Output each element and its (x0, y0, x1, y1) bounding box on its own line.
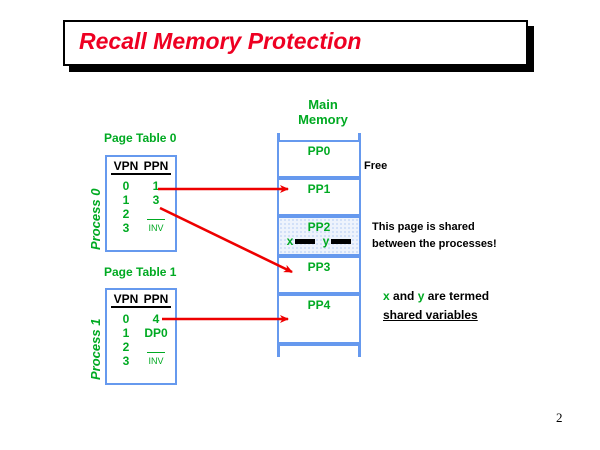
annotation-and: and (390, 289, 418, 303)
main-memory-title-line2: Memory (283, 112, 363, 127)
annotation-var-x: x (383, 289, 390, 303)
page-number: 2 (556, 410, 563, 426)
pt0-r2-vpn: 2 (111, 207, 141, 221)
memory-block-pp1-label: PP1 (279, 182, 359, 196)
main-memory-title-line1: Main (283, 97, 363, 112)
memory-block-pp4[interactable]: PP4 (277, 294, 361, 344)
table-row[interactable]: 2 (111, 340, 171, 354)
shared-variables-annotation-line1: x and y are termed (383, 287, 489, 306)
page-title: Recall Memory Protection (79, 28, 361, 55)
pt0-r0-ppn: 1 (141, 179, 171, 193)
memory-block-pp3-label: PP3 (279, 260, 359, 274)
page-table-0-col-vpn: VPN (111, 159, 141, 175)
memory-block-pp4-label: PP4 (279, 298, 359, 312)
pt0-r1-vpn: 1 (111, 193, 141, 207)
main-memory-title: Main Memory (283, 97, 363, 127)
pt1-r0-ppn: 4 (141, 312, 171, 326)
process-1-label: Process 1 (88, 319, 103, 380)
shared-variables-annotation-line2: shared variables (383, 306, 489, 325)
pt1-r1-ppn: DP0 (141, 326, 171, 340)
pt0-r3-ppn: INV (141, 221, 171, 235)
memory-block-pp3[interactable]: PP3 (277, 256, 361, 294)
pt1-r0-vpn: 0 (111, 312, 141, 326)
pt0-r2-ppn (141, 207, 171, 221)
annotation-termed: are termed (424, 289, 489, 303)
table-row[interactable]: 3 INV (111, 221, 171, 235)
arrow-pt0-vpn1-to-pp3 (160, 208, 292, 272)
title-box: Recall Memory Protection (63, 20, 528, 66)
table-row[interactable]: 0 4 (111, 312, 171, 326)
shared-page-annotation: This page is shared between the processe… (372, 219, 497, 253)
page-table-0-header: VPN PPN (111, 159, 171, 175)
page-table-1-header: VPN PPN (111, 292, 171, 308)
page-table-1-caption: Page Table 1 (104, 265, 176, 279)
memory-bottom-edge (277, 343, 361, 346)
shared-page-annotation-line2: between the processes! (372, 236, 497, 253)
memory-block-pp1[interactable]: PP1 (277, 178, 361, 216)
page-table-0[interactable]: VPN PPN 0 1 1 3 2 3 INV (105, 155, 177, 252)
variable-value-bar-icon (295, 239, 315, 244)
shared-variable-x-name: x (287, 235, 294, 247)
memory-block-pp0[interactable]: PP0 (277, 140, 361, 178)
pt1-r1-vpn: 1 (111, 326, 141, 340)
shared-variables-annotation: x and y are termed shared variables (383, 287, 489, 325)
slide-canvas: Recall Memory Protection Page Table 0 Pr… (0, 0, 600, 450)
pt0-r0-vpn: 0 (111, 179, 141, 193)
process-0-label: Process 0 (88, 189, 103, 250)
memory-block-pp2[interactable]: PP2 x y (277, 216, 361, 256)
page-table-0-col-ppn: PPN (141, 159, 171, 175)
pt1-r2-vpn: 2 (111, 340, 141, 354)
table-row[interactable]: 1 3 (111, 193, 171, 207)
page-table-0-caption: Page Table 0 (104, 131, 176, 145)
table-row[interactable]: 2 (111, 207, 171, 221)
page-table-1-col-ppn: PPN (141, 292, 171, 308)
table-row[interactable]: 3 INV (111, 354, 171, 368)
table-row[interactable]: 1 DP0 (111, 326, 171, 340)
page-table-1[interactable]: VPN PPN 0 4 1 DP0 2 3 INV (105, 288, 177, 385)
variable-value-bar-icon (331, 239, 351, 244)
pt1-r3-vpn: 3 (111, 354, 141, 368)
shared-variables-row: x y (279, 235, 359, 247)
shared-page-annotation-line1: This page is shared (372, 219, 497, 236)
pt1-r2-ppn (141, 340, 171, 354)
free-annotation: Free (364, 158, 387, 174)
pt1-r3-ppn: INV (141, 354, 171, 368)
page-table-1-col-vpn: VPN (111, 292, 141, 308)
pt0-r3-vpn: 3 (111, 221, 141, 235)
memory-block-pp2-label: PP2 (279, 220, 359, 234)
table-row[interactable]: 0 1 (111, 179, 171, 193)
shared-variable-x: x (287, 235, 316, 247)
shared-variable-y-name: y (323, 235, 330, 247)
memory-block-pp0-label: PP0 (279, 144, 359, 158)
pt0-r1-ppn: 3 (141, 193, 171, 207)
shared-variable-y: y (323, 235, 352, 247)
